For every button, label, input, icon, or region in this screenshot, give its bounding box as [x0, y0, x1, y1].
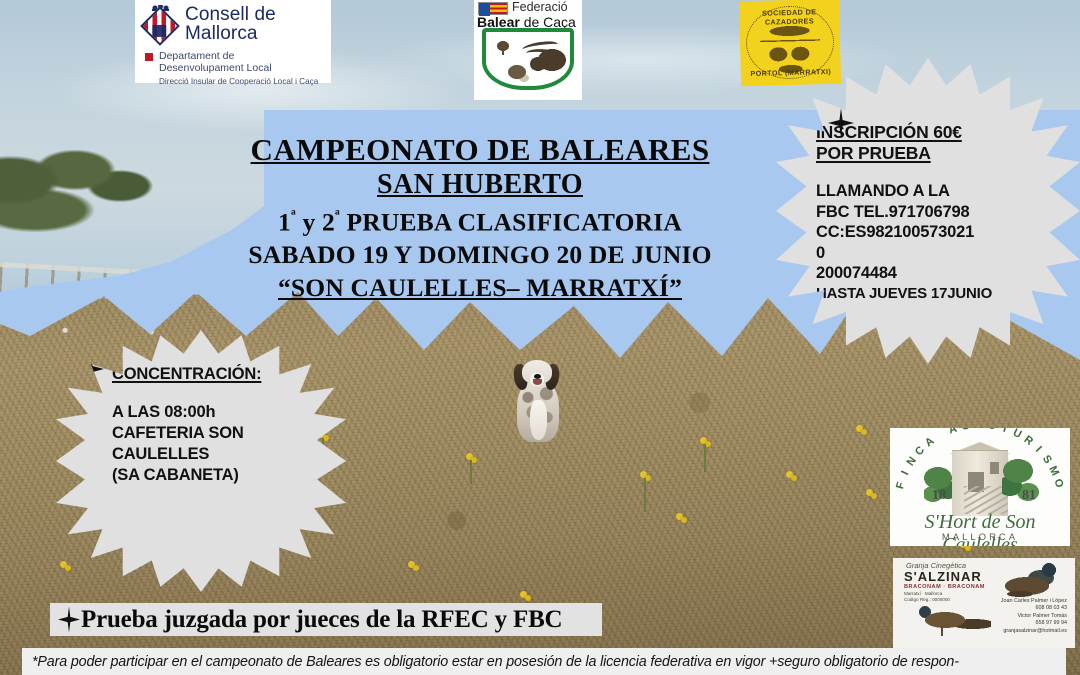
consell-wordmark-row: Consell de Mallorca: [143, 5, 325, 44]
consell-name: Consell de Mallorca: [185, 5, 276, 44]
title-line-3: 1ª y 2ª PRUEBA CLASIFICATORIA: [150, 201, 810, 239]
hort-arc-char: O: [1052, 477, 1067, 491]
title-line-5: “SON CAULELLES– MARRATXÍ”: [150, 271, 810, 304]
consell-name-line-1: Consell de: [185, 5, 276, 24]
flower-icon: [786, 470, 798, 482]
hunting-dogs-icon: [766, 43, 817, 64]
hort-arc-char: T: [1000, 428, 1012, 436]
fbc-shield-icon: [482, 28, 574, 90]
spacer: [816, 164, 1046, 181]
star-bullet-icon: [58, 607, 80, 633]
logo-federacio-balear-de-caca: Federació Balear de Caça: [474, 0, 582, 100]
inscripcion-body-3: CC:ES982100573021: [816, 222, 1046, 243]
dog-photo-subject: [508, 360, 568, 450]
alzinar-title: S'ALZINAR: [904, 569, 982, 584]
judges-banner: Prueba juzgada por jueces de la RFEC y F…: [50, 603, 602, 636]
flower-icon: [520, 590, 532, 602]
hort-arc-char: R: [975, 428, 985, 431]
judges-banner-text: Prueba juzgada por jueces de la RFEC y F…: [81, 606, 562, 634]
title-line-3-post: PRUEBA CLASIFICATORIA: [340, 208, 682, 237]
inscripcion-body-4: 0: [816, 243, 1046, 264]
inscripcion-heading-1: INSCRIPCIÓN 60€: [816, 122, 1046, 143]
alzinar-subtitle: BRACONAM · BRACONAM: [904, 584, 985, 590]
diamond-frame-icon: [140, 7, 180, 47]
flower-icon: [676, 512, 688, 524]
sociedad-ring: SOCIEDAD DE CAZADORES PORTOL (MARRATXI): [745, 5, 835, 80]
alzinar-contact-line-5: granjasalzinar@hotmail.es: [981, 628, 1067, 635]
bird-icon: [508, 62, 530, 86]
consell-name-line-2: Mallorca: [185, 24, 276, 43]
alzinar-contact: Joan Carles Palmer i López 608 08 03 43 …: [981, 598, 1067, 635]
rabbit-icon: [766, 23, 814, 36]
consell-dept-line-1: Departament de: [159, 50, 318, 62]
concentracion-block: CONCENTRACIÓN: A LAS 08:00h CAFETERIA SO…: [112, 364, 327, 486]
disclaimer-strip: *Para poder participar en el campeonato …: [22, 648, 1066, 675]
house-window-upper: [990, 462, 999, 474]
red-square-icon: [145, 53, 153, 61]
spacer: [112, 385, 327, 402]
hort-arc-char: I: [1033, 444, 1045, 456]
inscripcion-body-6: HASTA JUEVES 17JUNIO: [816, 284, 1046, 305]
inscripcion-heading-2: POR PRUEBA: [816, 143, 1046, 164]
hort-arc-char: R: [1022, 434, 1037, 450]
concentracion-starburst: CONCENTRACIÓN: A LAS 08:00h CAFETERIA SO…: [56, 330, 346, 592]
flower-icon: [866, 488, 878, 500]
page-title: CAMPEONATO DE BALEARES SAN HUBERTO 1ª y …: [150, 132, 810, 304]
hort-arc-char: G: [960, 428, 973, 433]
logo-sociedad-de-cazadores: SOCIEDAD DE CAZADORES PORTOL (MARRATXI): [739, 0, 841, 86]
title-line-3-mid: y 2: [296, 208, 335, 237]
flower-stem: [704, 444, 706, 472]
flower-icon: [856, 424, 868, 436]
flower-icon: [640, 470, 652, 482]
poster-root: CAMPEONATO DE BALEARES SAN HUBERTO 1ª y …: [0, 0, 1080, 675]
title-line-2: SAN HUBERTO: [150, 168, 810, 201]
inscripcion-body-2: FBC TEL.971706798: [816, 202, 1046, 223]
consell-department-text: Departament de Desenvolupament Local Dir…: [159, 50, 318, 86]
logo-short-de-son-caulelles: FINCA AGROTURISMO 18 81 S'Hort de Son Ca…: [890, 428, 1070, 546]
shield-inner-icon: [152, 25, 166, 37]
inscripcion-body-1: LLAMANDO A LA: [816, 181, 1046, 202]
concentracion-body-1: A LAS 08:00h: [112, 402, 327, 423]
consell-dept-line-3: Direcció Insular de Cooperació Local i C…: [159, 77, 318, 87]
title-line-1: CAMPEONATO DE BALEARES: [150, 132, 810, 168]
concentracion-body-4: (SA CABANETA): [112, 465, 327, 486]
alzinar-contact-line-3: Victor Palmer Tomàs: [981, 613, 1067, 620]
consell-department-row: Departament de Desenvolupament Local Dir…: [143, 50, 325, 86]
pheasant-icon: [905, 602, 991, 644]
inscripcion-body-5: 200074484: [816, 263, 1046, 284]
hort-arc-char: F: [894, 478, 908, 490]
hort-arc-char: O: [987, 428, 1000, 433]
inscripcion-block: INSCRIPCIÓN 60€ POR PRUEBA LLAMANDO A LA…: [816, 122, 1046, 304]
consell-shield-icon: [143, 5, 177, 43]
partridge-icon: [496, 38, 510, 54]
fbc-line-1: Federació: [512, 0, 568, 14]
hort-arc-char: A: [947, 428, 961, 437]
hort-year-left: 18: [932, 488, 946, 504]
title-line-3-pre: 1: [278, 208, 291, 237]
flower-stem: [644, 478, 646, 512]
alzinar-contact-line-4: 658 97 99 94: [981, 620, 1067, 627]
hort-year-right: 81: [1022, 488, 1036, 504]
flower-icon: [700, 436, 712, 448]
alzinar-contact-line-1: Joan Carles Palmer i López: [981, 598, 1067, 605]
dog-chest: [530, 400, 547, 440]
concentracion-body-2: CAFETERIA SON: [112, 423, 327, 444]
flower-stem: [470, 460, 472, 484]
hort-subtitle: MALLORCA: [890, 532, 1070, 543]
disclaimer-text: *Para poder participar en el campeonato …: [32, 654, 959, 670]
consell-dept-line-2: Desenvolupament Local: [159, 62, 318, 74]
alzinar-contact-line-2: 608 08 03 43: [981, 605, 1067, 612]
flower-icon: [466, 452, 478, 464]
goat-horn-lower: [526, 48, 559, 59]
hort-arc-char: [937, 428, 947, 441]
hort-arc-char: I: [899, 467, 912, 477]
concentracion-body-3: CAULELLES: [112, 444, 327, 465]
fbc-header: Federació Balear de Caça: [474, 0, 582, 30]
logo-consell-de-mallorca: Consell de Mallorca Departament de Desen…: [135, 0, 331, 83]
logo-granja-salzinar-card: Granja Cinegètica S'ALZINAR BRACONAM · B…: [893, 558, 1075, 648]
dog-mouth: [533, 379, 542, 385]
sociedad-arc-bottom: PORTOL (MARRATXI): [747, 67, 835, 78]
title-line-4: SABADO 19 Y DOMINGO 20 DE JUNIO: [150, 239, 810, 271]
inscripcion-starburst: INSCRIPCIÓN 60€ POR PRUEBA LLAMANDO A LA…: [776, 58, 1080, 364]
flower-icon: [60, 560, 72, 572]
flower-icon: [408, 560, 420, 572]
